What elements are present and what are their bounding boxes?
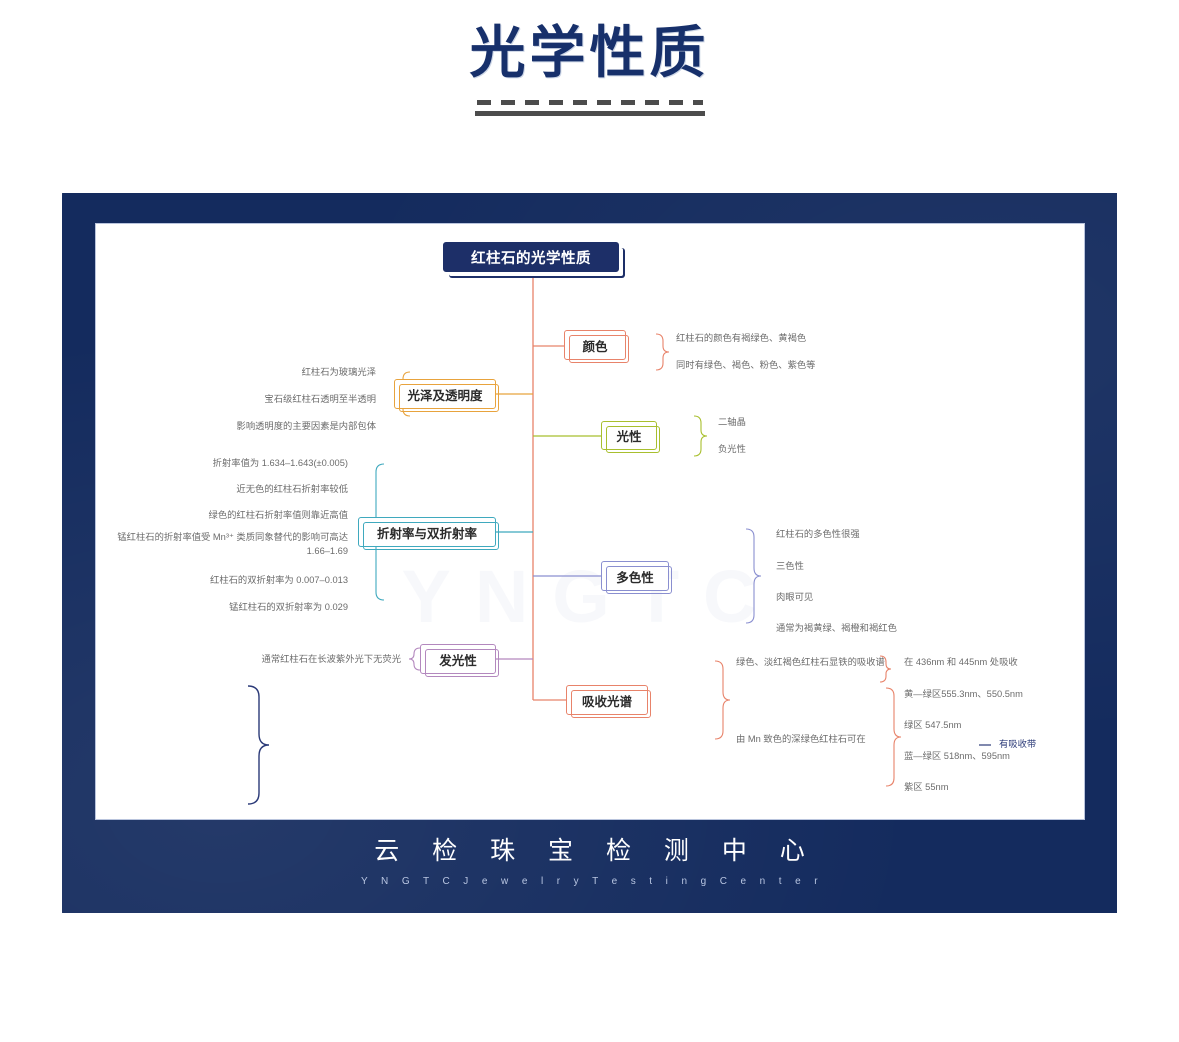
branch-node-luster-label: 光泽及透明度 bbox=[407, 385, 482, 404]
leaf-optic-0: 二轴晶 bbox=[718, 416, 746, 429]
branch-node-fluorescence[interactable]: 发光性 bbox=[420, 644, 496, 674]
leaf-color-1: 同时有绿色、褐色、粉色、紫色等 bbox=[676, 359, 815, 372]
title-block: 光学性质 bbox=[0, 22, 1179, 116]
leaf-color-0: 红柱石的颜色有褐绿色、黄褐色 bbox=[676, 332, 806, 345]
title-solid-rule bbox=[475, 111, 705, 116]
branch-node-absorption-spectrum[interactable]: 吸收光谱 bbox=[566, 685, 648, 715]
branch-node-refractive-index[interactable]: 折射率与双折射率 bbox=[358, 517, 496, 547]
leaf-refraction-3: 锰红柱石的折射率值受 Mn³⁺ 类质同象替代的影响可高达 1.66–1.69 bbox=[106, 531, 348, 559]
leaf-absorption-mn-2: 蓝—绿区 518nm、595nm bbox=[904, 750, 1010, 763]
mindmap-root-node[interactable]: 红柱石的光学性质 bbox=[443, 242, 619, 272]
page-title: 光学性质 bbox=[0, 22, 1179, 84]
leaf-luster-0: 红柱石为玻璃光泽 bbox=[96, 366, 376, 379]
leaf-absorption-1: 由 Mn 致色的深绿色红柱石可在 bbox=[736, 733, 866, 746]
leaf-refraction-2: 绿色的红柱石折射率值则靠近高值 bbox=[96, 509, 348, 522]
branch-node-optic-label: 光性 bbox=[616, 426, 641, 445]
leaf-refraction-1: 近无色的红柱石折射率较低 bbox=[96, 483, 348, 496]
leaf-refraction-0: 折射率值为 1.634–1.643(±0.005) bbox=[96, 457, 348, 470]
leaf-optic-1: 负光性 bbox=[718, 443, 746, 456]
branch-node-pleochroism-label: 多色性 bbox=[616, 567, 654, 586]
leaf-absorption-mn-3: 紫区 55nm bbox=[904, 781, 948, 794]
branch-node-optic-character[interactable]: 光性 bbox=[601, 421, 657, 450]
footer: 云 检 珠 宝 检 测 中 心 Y N G T C J e w e l r y … bbox=[62, 831, 1117, 887]
leaf-absorption-mn-1: 绿区 547.5nm bbox=[904, 719, 961, 732]
leaf-absorption-0: 绿色、淡红褐色红柱石显铁的吸收谱 bbox=[736, 656, 885, 669]
navy-frame: YNGTC bbox=[62, 193, 1117, 913]
root-node-label: 红柱石的光学性质 bbox=[471, 247, 591, 268]
footer-title-en: Y N G T C J e w e l r y T e s t i n g C … bbox=[62, 876, 1117, 887]
leaf-pleochroism-1: 三色性 bbox=[776, 560, 804, 573]
leaf-pleochroism-2: 肉眼可见 bbox=[776, 591, 813, 604]
leaf-absorption-mn-0: 黄—绿区555.3nm、550.5nm bbox=[904, 688, 1023, 701]
leaf-refraction-4: 红柱石的双折射率为 0.007–0.013 bbox=[96, 574, 348, 587]
footer-title-cn: 云 检 珠 宝 检 测 中 心 bbox=[62, 831, 1117, 867]
leaf-refraction-5: 锰红柱石的双折射率为 0.029 bbox=[96, 601, 348, 614]
branch-node-luster-transparency[interactable]: 光泽及透明度 bbox=[394, 379, 496, 409]
branch-node-pleochroism[interactable]: 多色性 bbox=[601, 561, 669, 591]
page-root: 光学性质 YNGTC bbox=[0, 0, 1179, 1042]
leaf-pleochroism-3: 通常为褐黄绿、褐橙和褐红色 bbox=[776, 622, 897, 635]
branch-node-fluorescence-label: 发光性 bbox=[439, 650, 477, 669]
mindmap-canvas: YNGTC bbox=[95, 223, 1085, 820]
branch-node-color-label: 颜色 bbox=[582, 336, 607, 355]
branch-node-color[interactable]: 颜色 bbox=[564, 330, 626, 360]
leaf-luster-1: 宝石级红柱石透明至半透明 bbox=[96, 393, 376, 406]
leaf-absorption-iron-0: 在 436nm 和 445nm 处吸收 bbox=[904, 656, 1018, 669]
branch-node-absorption-label: 吸收光谱 bbox=[582, 691, 632, 710]
title-dashed-rule bbox=[477, 100, 703, 105]
branch-node-refraction-label: 折射率与双折射率 bbox=[377, 523, 477, 542]
leaf-luster-2: 影响透明度的主要因素是内部包体 bbox=[96, 420, 376, 433]
leaf-pleochroism-0: 红柱石的多色性很强 bbox=[776, 528, 860, 541]
leaf-absorption-band: 有吸收带 bbox=[999, 738, 1036, 751]
leaf-fluorescence-0: 通常红柱石在长波紫外光下无荧光 bbox=[136, 653, 401, 666]
